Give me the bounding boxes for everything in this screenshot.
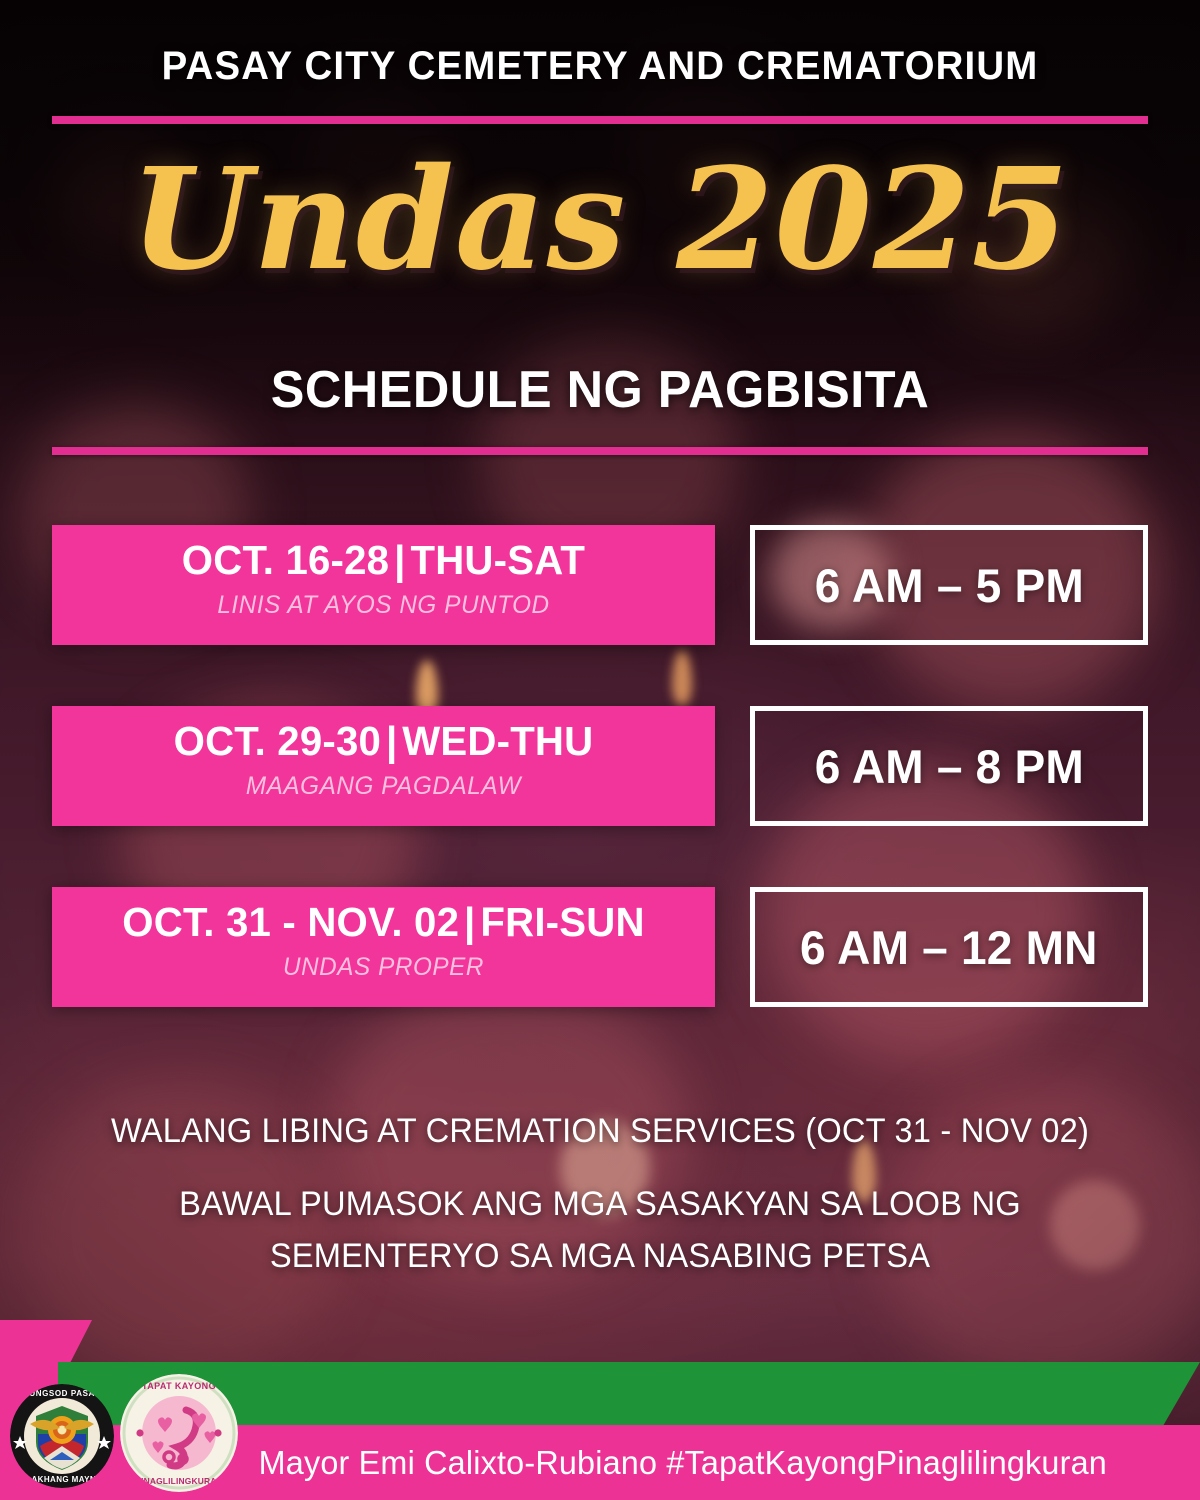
schedule-description: UNDAS PROPER [62, 953, 705, 982]
schedule-date-block: OCT. 29-30|WED-THU MAAGANG PAGDALAW [52, 706, 715, 826]
schedule-time-box: 6 AM – 5 PM [750, 525, 1148, 645]
schedule-row: OCT. 16-28|THU-SAT LINIS AT AYOS NG PUNT… [0, 525, 1200, 645]
event-title: Undas 2025 [0, 150, 1200, 290]
schedule-date-block: OCT. 31 - NOV. 02|FRI-SUN UNDAS PROPER [52, 887, 715, 1007]
schedule-time-label: 6 AM – 12 MN [800, 920, 1098, 975]
notice-line-1: WALANG LIBING AT CREMATION SERVICES (OCT… [24, 1112, 1176, 1151]
schedule-description: MAAGANG PAGDALAW [62, 772, 705, 801]
footer: LUNGSOD PASAY KALAKHANG MAYNILA [0, 1320, 1200, 1500]
pasay-seal-bottom-text: KALAKHANG MAYNILA [10, 1475, 114, 1484]
notice-section: WALANG LIBING AT CREMATION SERVICES (OCT… [0, 1112, 1200, 1282]
footer-credit: Mayor Emi Calixto-Rubiano #TapatKayongPi… [259, 1425, 1107, 1500]
schedule-description: LINIS AT AYOS NG PUNTOD [62, 591, 705, 620]
schedule-time-label: 6 AM – 5 PM [814, 558, 1083, 613]
schedule-days-label: THU-SAT [410, 537, 585, 583]
pasay-seal-ring-text: LUNGSOD PASAY KALAKHANG MAYNILA [10, 1384, 114, 1488]
divider-bottom [52, 447, 1148, 455]
schedule-date-line: OCT. 29-30|WED-THU [59, 719, 709, 765]
schedule-date-label: OCT. 31 - NOV. 02 [122, 899, 459, 945]
schedule-days-label: FRI-SUN [480, 899, 644, 945]
schedule-time-box: 6 AM – 12 MN [750, 887, 1148, 1007]
schedule-time-label: 6 AM – 8 PM [814, 739, 1083, 794]
schedule-date-block: OCT. 16-28|THU-SAT LINIS AT AYOS NG PUNT… [52, 525, 715, 645]
schedule-date-line: OCT. 16-28|THU-SAT [59, 538, 709, 584]
schedule-row: OCT. 29-30|WED-THU MAAGANG PAGDALAW 6 AM… [0, 706, 1200, 826]
pasay-seal-top-text: LUNGSOD PASAY [10, 1389, 114, 1398]
schedule-separator: | [381, 718, 402, 764]
schedule-days-label: WED-THU [402, 718, 593, 764]
divider-top [52, 116, 1148, 124]
schedule-list: OCT. 16-28|THU-SAT LINIS AT AYOS NG PUNT… [0, 525, 1200, 1068]
schedule-date-label: OCT. 16-28 [182, 537, 389, 583]
poster-canvas: PASAY CITY CEMETERY AND CREMATORIUM Unda… [0, 0, 1200, 1500]
notice-block-2: BAWAL PUMASOK ANG MGA SASAKYAN SA LOOB N… [24, 1179, 1176, 1282]
schedule-date-line: OCT. 31 - NOV. 02|FRI-SUN [59, 900, 709, 946]
poster-content: PASAY CITY CEMETERY AND CREMATORIUM Unda… [0, 0, 1200, 1500]
pasay-city-seal-icon: LUNGSOD PASAY KALAKHANG MAYNILA [10, 1384, 114, 1488]
page-title: PASAY CITY CEMETERY AND CREMATORIUM [24, 44, 1176, 89]
schedule-separator: | [389, 537, 410, 583]
schedule-separator: | [459, 899, 480, 945]
schedule-date-label: OCT. 29-30 [174, 718, 381, 764]
schedule-time-box: 6 AM – 8 PM [750, 706, 1148, 826]
tapat-logo-ring-text: TAPAT KAYONG PINAGLILINGKURAN [120, 1374, 238, 1492]
notice-line-2: BAWAL PUMASOK ANG MGA SASAKYAN SA LOOB N… [24, 1179, 1176, 1231]
page-subtitle: SCHEDULE NG PAGBISITA [18, 360, 1182, 420]
tapat-logo-top-text: TAPAT KAYONG [120, 1381, 238, 1391]
tapat-logo-bottom-text: PINAGLILINGKURAN [120, 1476, 238, 1486]
notice-line-3: SEMENTERYO SA MGA NASABING PETSA [24, 1231, 1176, 1283]
schedule-row: OCT. 31 - NOV. 02|FRI-SUN UNDAS PROPER 6… [0, 887, 1200, 1007]
tapat-kayong-logo-icon: TAPAT KAYONG PINAGLILINGKURAN [120, 1374, 238, 1492]
